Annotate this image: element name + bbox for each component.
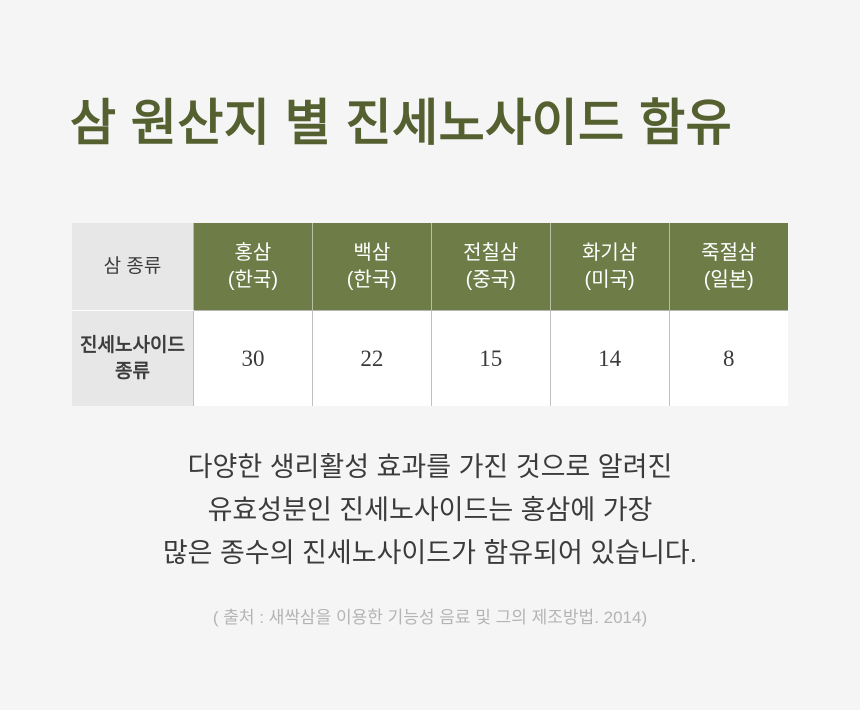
row-header-line2: 종류 <box>115 361 150 382</box>
description-line-2: 유효성분인 진세노사이드는 홍삼에 가장 <box>0 489 860 532</box>
table-header-row: 삼 종류 홍삼 (한국) 백삼 (한국) 전칠삼 (중국) 화기삼 <box>72 223 788 311</box>
description-text: 다양한 생리활성 효과를 가진 것으로 알려진 유효성분인 진세노사이드는 홍삼… <box>0 446 860 575</box>
ginseng-table-container: 삼 종류 홍삼 (한국) 백삼 (한국) 전칠삼 (중국) 화기삼 <box>72 223 788 406</box>
table-header: 삼 종류 홍삼 (한국) 백삼 (한국) 전칠삼 (중국) 화기삼 <box>72 223 788 311</box>
column-header-jeonchilsam: 전칠삼 (중국) <box>431 223 550 311</box>
description-line-1: 다양한 생리활성 효과를 가진 것으로 알려진 <box>0 446 860 489</box>
value-cell-baeksam: 22 <box>312 311 431 407</box>
column-header-name: 화기삼 <box>551 240 669 266</box>
source-citation: ( 출처 : 새싹삼을 이용한 기능성 음료 및 그의 제조방법. 2014) <box>0 603 860 628</box>
table-body: 진세노사이드 종류 30 22 15 14 8 <box>72 311 788 407</box>
value-cell-jukjeolsam: 8 <box>669 311 788 407</box>
table-corner-header: 삼 종류 <box>72 223 194 311</box>
column-header-name: 전칠삼 <box>432 240 550 266</box>
value-cell-jeonchilsam: 15 <box>431 311 550 407</box>
value-cell-hwagisam: 14 <box>550 311 669 407</box>
row-header-line1: 진세노사이드 <box>80 335 185 356</box>
column-header-jukjeolsam: 죽절삼 (일본) <box>669 223 788 311</box>
infographic-page: 삼 원산지 별 진세노사이드 함유 삼 종류 홍삼 (한국) 백삼 (한국) 전… <box>0 0 860 710</box>
ginseng-data-table: 삼 종류 홍삼 (한국) 백삼 (한국) 전칠삼 (중국) 화기삼 <box>72 223 788 406</box>
column-header-hwagisam: 화기삼 (미국) <box>550 223 669 311</box>
column-header-hongsam: 홍삼 (한국) <box>194 223 313 311</box>
column-header-origin: (미국) <box>551 267 669 293</box>
column-header-baeksam: 백삼 (한국) <box>312 223 431 311</box>
page-title: 삼 원산지 별 진세노사이드 함유 <box>70 96 800 151</box>
column-header-name: 백삼 <box>313 240 431 266</box>
column-header-origin: (중국) <box>432 267 550 293</box>
value-cell-hongsam: 30 <box>194 311 313 407</box>
row-header-ginsenoside-types: 진세노사이드 종류 <box>72 311 194 407</box>
column-header-origin: (일본) <box>670 267 788 293</box>
table-row: 진세노사이드 종류 30 22 15 14 8 <box>72 311 788 407</box>
column-header-name: 죽절삼 <box>670 240 788 266</box>
column-header-origin: (한국) <box>194 267 312 293</box>
column-header-origin: (한국) <box>313 267 431 293</box>
description-line-3: 많은 종수의 진세노사이드가 함유되어 있습니다. <box>0 532 860 575</box>
column-header-name: 홍삼 <box>194 240 312 266</box>
